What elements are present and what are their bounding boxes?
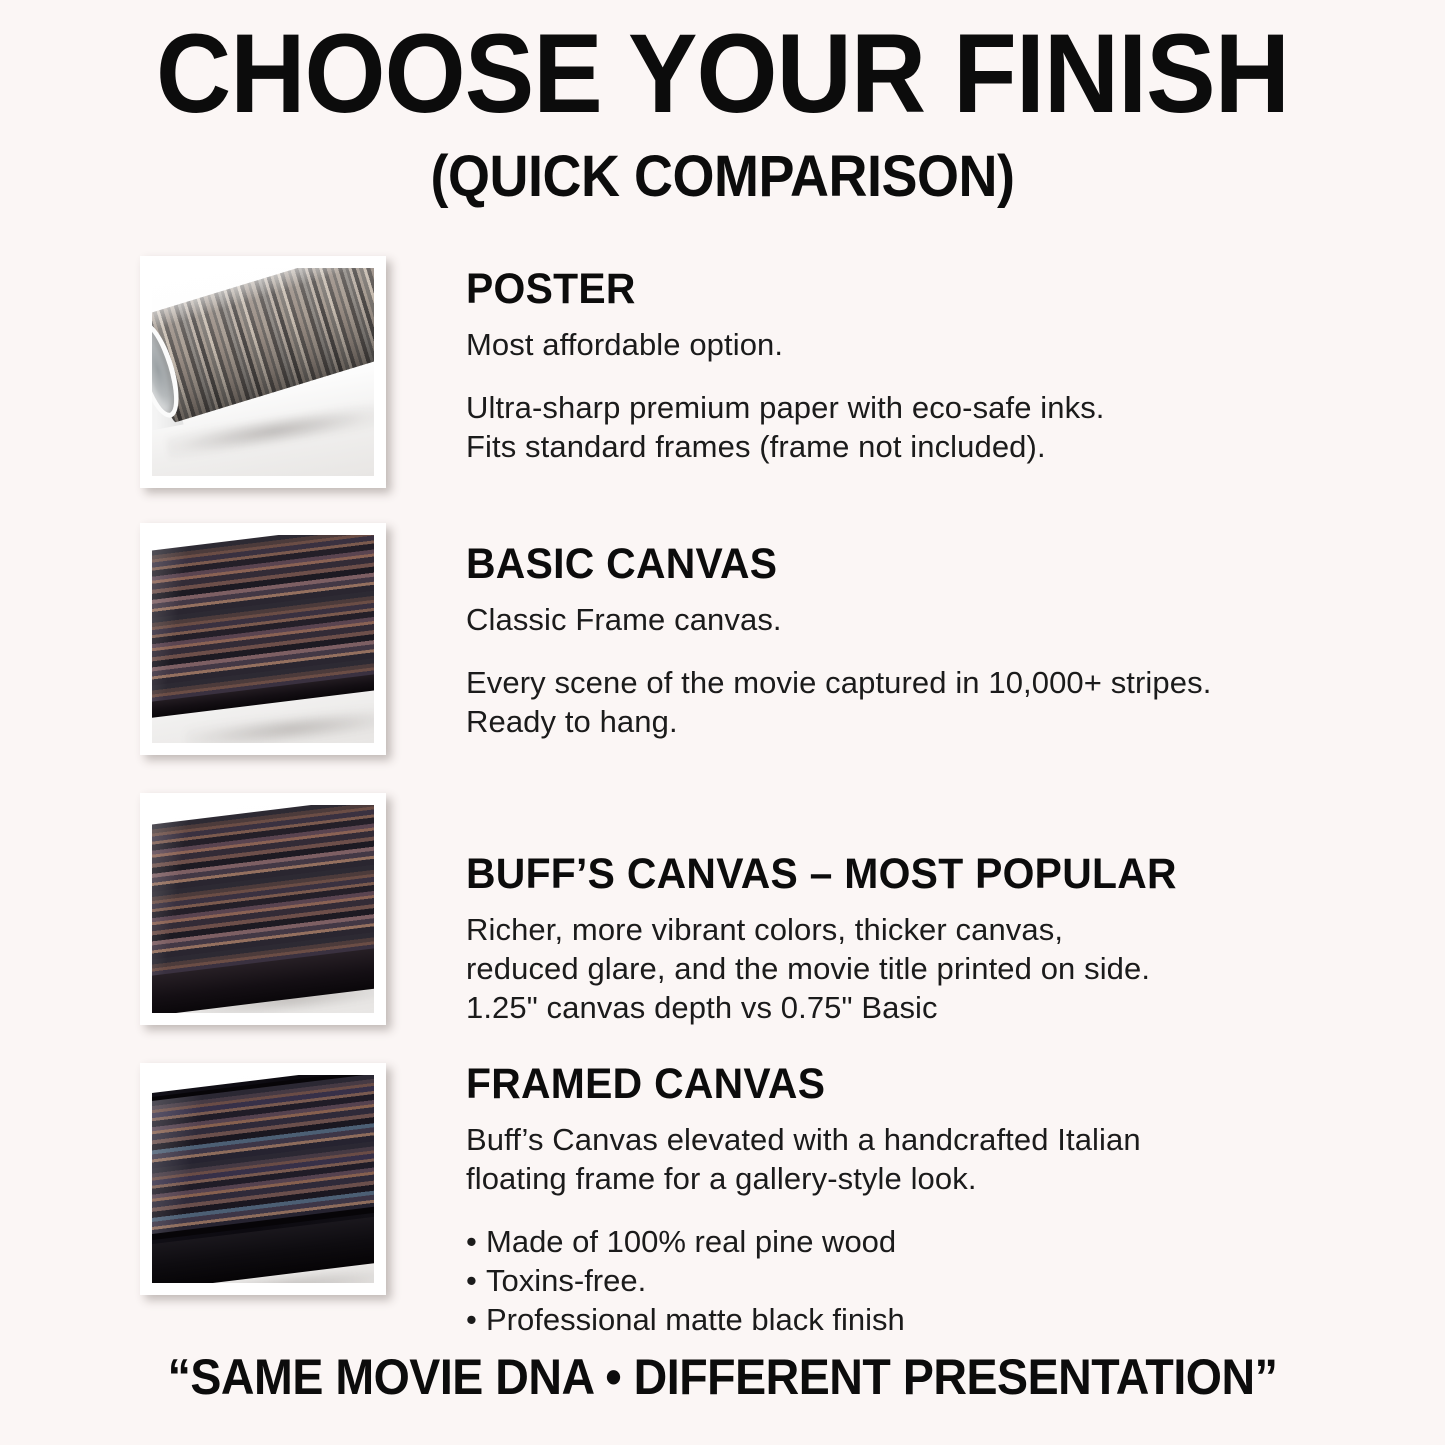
footer: “SAME MOVIE DNA • DIFFERENT PRESENTATION… bbox=[0, 1352, 1445, 1402]
buffs-canvas-text-block: BUFF’S CANVAS – MOST POPULAR Richer, mor… bbox=[466, 853, 1366, 1027]
option-title-framed-canvas: FRAMED CANVAS bbox=[466, 1063, 1321, 1106]
poster-thumbnail[interactable] bbox=[140, 256, 386, 488]
list-item: Made of 100% real pine wood bbox=[466, 1222, 1366, 1261]
infographic-page: CHOOSE YOUR FINISH (QUICK COMPARISON) PO… bbox=[0, 0, 1445, 1445]
basic-canvas-thumbnail[interactable] bbox=[140, 523, 386, 755]
framed-canvas-graphic bbox=[152, 1075, 374, 1283]
option-tagline-basic-canvas: Classic Frame canvas. bbox=[466, 600, 1366, 639]
poster-text-block: POSTER Most affordable option. Ultra-sha… bbox=[466, 268, 1366, 466]
option-tagline-poster: Most affordable option. bbox=[466, 325, 1366, 364]
option-title-basic-canvas: BASIC CANVAS bbox=[466, 543, 1321, 586]
list-item: Toxins-free. bbox=[466, 1261, 1366, 1300]
framed-canvas-thumbnail[interactable] bbox=[140, 1063, 386, 1295]
option-row-basic-canvas: BASIC CANVAS Classic Frame canvas. Every… bbox=[0, 515, 1445, 765]
option-detail-framed-canvas-1: Buff’s Canvas elevated with a handcrafte… bbox=[466, 1120, 1366, 1159]
frame-striped-artwork bbox=[152, 1075, 374, 1235]
option-detail-buffs-canvas-3: 1.25" canvas depth vs 0.75" Basic bbox=[466, 988, 1366, 1027]
buffs-canvas-graphic bbox=[152, 805, 374, 1013]
option-row-buffs-canvas: BUFF’S CANVAS – MOST POPULAR Richer, mor… bbox=[0, 785, 1445, 1035]
option-detail-poster-1: Ultra-sharp premium paper with eco-safe … bbox=[466, 388, 1366, 427]
option-detail-basic-canvas-2: Ready to hang. bbox=[466, 702, 1366, 741]
header: CHOOSE YOUR FINISH (QUICK COMPARISON) bbox=[0, 0, 1445, 206]
option-title-buffs-canvas: BUFF’S CANVAS – MOST POPULAR bbox=[466, 853, 1321, 896]
option-detail-buffs-canvas-1: Richer, more vibrant colors, thicker can… bbox=[466, 910, 1366, 949]
page-title: CHOOSE YOUR FINISH bbox=[51, 0, 1395, 130]
option-detail-framed-canvas-2: floating frame for a gallery-style look. bbox=[466, 1159, 1366, 1198]
page-subtitle: (QUICK COMPARISON) bbox=[51, 130, 1395, 206]
option-detail-poster-2: Fits standard frames (frame not included… bbox=[466, 427, 1366, 466]
footer-tagline: “SAME MOVIE DNA • DIFFERENT PRESENTATION… bbox=[51, 1352, 1395, 1402]
basic-canvas-graphic bbox=[152, 535, 374, 743]
basic-canvas-photo bbox=[152, 535, 374, 743]
buffs-canvas-photo bbox=[152, 805, 374, 1013]
option-row-poster: POSTER Most affordable option. Ultra-sha… bbox=[0, 248, 1445, 498]
basic-canvas-text-block: BASIC CANVAS Classic Frame canvas. Every… bbox=[466, 543, 1366, 741]
list-item: Professional matte black finish bbox=[466, 1300, 1366, 1339]
poster-roll-photo bbox=[152, 268, 374, 476]
option-detail-basic-canvas-1: Every scene of the movie captured in 10,… bbox=[466, 663, 1366, 702]
option-row-framed-canvas: FRAMED CANVAS Buff’s Canvas elevated wit… bbox=[0, 1055, 1445, 1305]
framed-canvas-bullet-list: Made of 100% real pine wood Toxins-free.… bbox=[466, 1222, 1366, 1339]
buffs-canvas-thumbnail[interactable] bbox=[140, 793, 386, 1025]
option-title-poster: POSTER bbox=[466, 268, 1321, 311]
option-detail-buffs-canvas-2: reduced glare, and the movie title print… bbox=[466, 949, 1366, 988]
framed-canvas-photo bbox=[152, 1075, 374, 1283]
framed-canvas-text-block: FRAMED CANVAS Buff’s Canvas elevated wit… bbox=[466, 1063, 1366, 1339]
